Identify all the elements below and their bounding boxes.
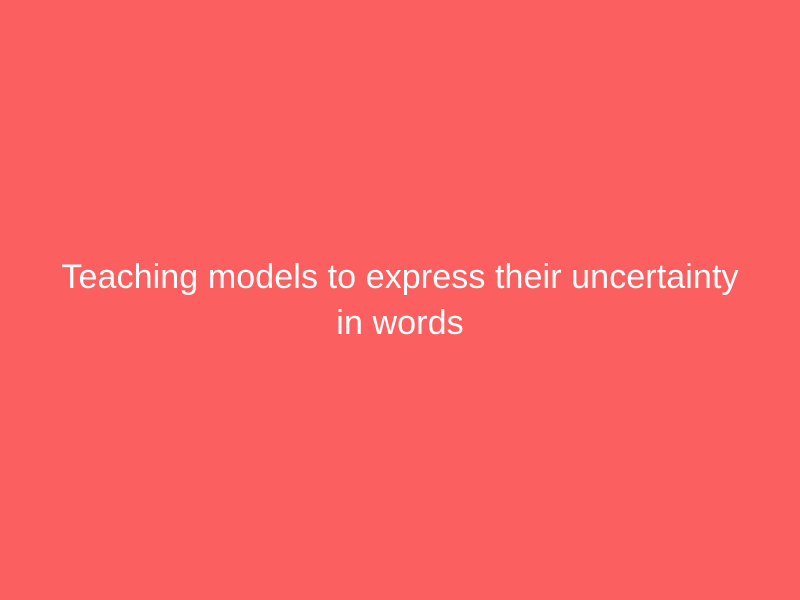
title-block: Teaching models to express their uncerta… <box>50 254 750 346</box>
preview-card: Teaching models to express their uncerta… <box>0 0 800 600</box>
page-title: Teaching models to express their uncerta… <box>50 254 750 346</box>
